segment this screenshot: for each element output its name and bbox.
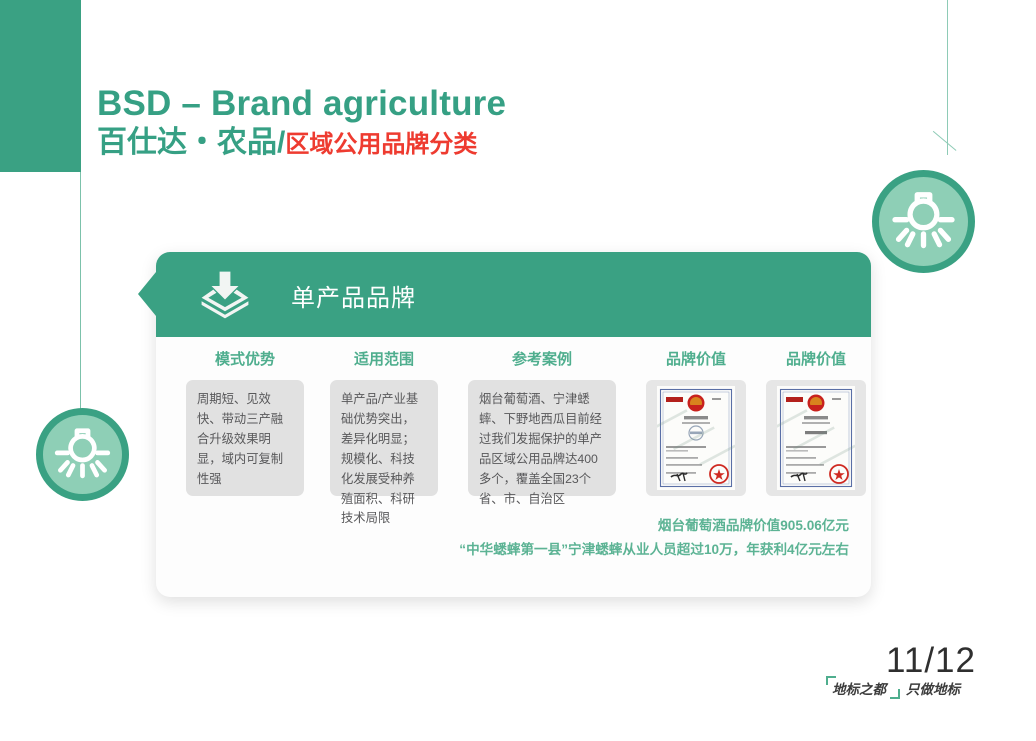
caption-line: “中华蟋蟀第一县”宁津蟋蟀从业人员超过10万，年获利4亿元左右: [156, 538, 849, 562]
certificate-thumbnail-1: [646, 380, 746, 496]
page-title: BSD – Brand agriculture 百仕达・农品/区域公用品牌分类: [97, 84, 506, 161]
download-box-icon: [198, 268, 252, 322]
column-header: 参考案例: [512, 348, 572, 369]
logo-text-left: 地标之都: [832, 678, 886, 698]
caption-line: 烟台葡萄酒品牌价值905.06亿元: [156, 514, 849, 538]
column-body-box: 周期短、见效快、带动三产融合升级效果明显，域内可复制性强: [186, 380, 304, 496]
top-right-connector-line: [947, 0, 948, 155]
card-header-label: 单产品品牌: [291, 278, 416, 313]
page-number: 11/12: [886, 641, 976, 681]
card-captions: 烟台葡萄酒品牌价值905.06亿元 “中华蟋蟀第一县”宁津蟋蟀从业人员超过10万…: [156, 514, 849, 562]
column-mode-advantage: 模式优势 周期短、见效快、带动三产融合升级效果明显，域内可复制性强: [186, 348, 304, 496]
lightbulb-glyph: [879, 177, 968, 266]
column-body-text: 烟台葡萄酒、宁津蟋蟀、下野地西瓜目前经过我们发掘保护的单产品区域公用品牌达400…: [479, 390, 605, 509]
card-header-band: 单产品品牌: [156, 252, 871, 337]
lightbulb-icon: [36, 408, 129, 501]
trademark-certificate-image: [777, 386, 855, 490]
logo-text-right: 只做地标: [906, 678, 960, 698]
column-brand-value-2: 品牌价值: [766, 348, 866, 496]
download-box-glyph: [198, 268, 252, 322]
column-applicable-scope: 适用范围 单产品/产业基础优势突出，差异化明显；规模化、科技化发展受种养殖面积、…: [330, 348, 438, 496]
left-connector-line: [80, 172, 81, 422]
column-body-box: 单产品/产业基础优势突出，差异化明显；规模化、科技化发展受种养殖面积、科研技术局…: [330, 380, 438, 496]
bracket-top-vertical: [826, 676, 828, 685]
column-body-box: 烟台葡萄酒、宁津蟋蟀、下野地西瓜目前经过我们发掘保护的单产品区域公用品牌达400…: [468, 380, 616, 496]
lightbulb-glyph: [43, 415, 122, 494]
footer-logo: 地标之都 只做地标: [826, 678, 966, 704]
title-chinese-row: 百仕达・农品/区域公用品牌分类: [97, 126, 506, 161]
certificate-thumbnail-2: [766, 380, 866, 496]
bracket-bottom-vertical: [898, 689, 900, 699]
top-right-connector-diagonal: [933, 131, 957, 151]
column-header: 适用范围: [354, 348, 414, 369]
column-reference-case: 参考案例 烟台葡萄酒、宁津蟋蟀、下野地西瓜目前经过我们发掘保护的单产品区域公用品…: [468, 348, 616, 496]
columns-container: 模式优势 周期短、见效快、带动三产融合升级效果明显，域内可复制性强 适用范围 单…: [178, 348, 854, 496]
column-body-text: 周期短、见效快、带动三产融合升级效果明显，域内可复制性强: [197, 390, 293, 490]
card-header-notch: [138, 272, 156, 316]
title-english: BSD – Brand agriculture: [97, 84, 506, 123]
title-chinese-main: 百仕达・农品/: [97, 126, 285, 159]
slide-canvas: BSD – Brand agriculture 百仕达・农品/区域公用品牌分类 …: [0, 0, 1036, 741]
content-card: 单产品品牌 模式优势 周期短、见效快、带动三产融合升级效果明显，域内可复制性强 …: [156, 252, 871, 597]
left-green-block: [0, 0, 81, 172]
column-body-text: 单产品/产业基础优势突出，差异化明显；规模化、科技化发展受种养殖面积、科研技术局…: [341, 390, 427, 529]
column-header: 品牌价值: [786, 348, 846, 369]
trademark-certificate-image: [657, 386, 735, 490]
lightbulb-icon: [872, 170, 975, 273]
column-header: 模式优势: [215, 348, 275, 369]
column-brand-value-1: 品牌价值: [646, 348, 746, 496]
column-header: 品牌价值: [666, 348, 726, 369]
title-chinese-highlight: 区域公用品牌分类: [285, 131, 477, 158]
